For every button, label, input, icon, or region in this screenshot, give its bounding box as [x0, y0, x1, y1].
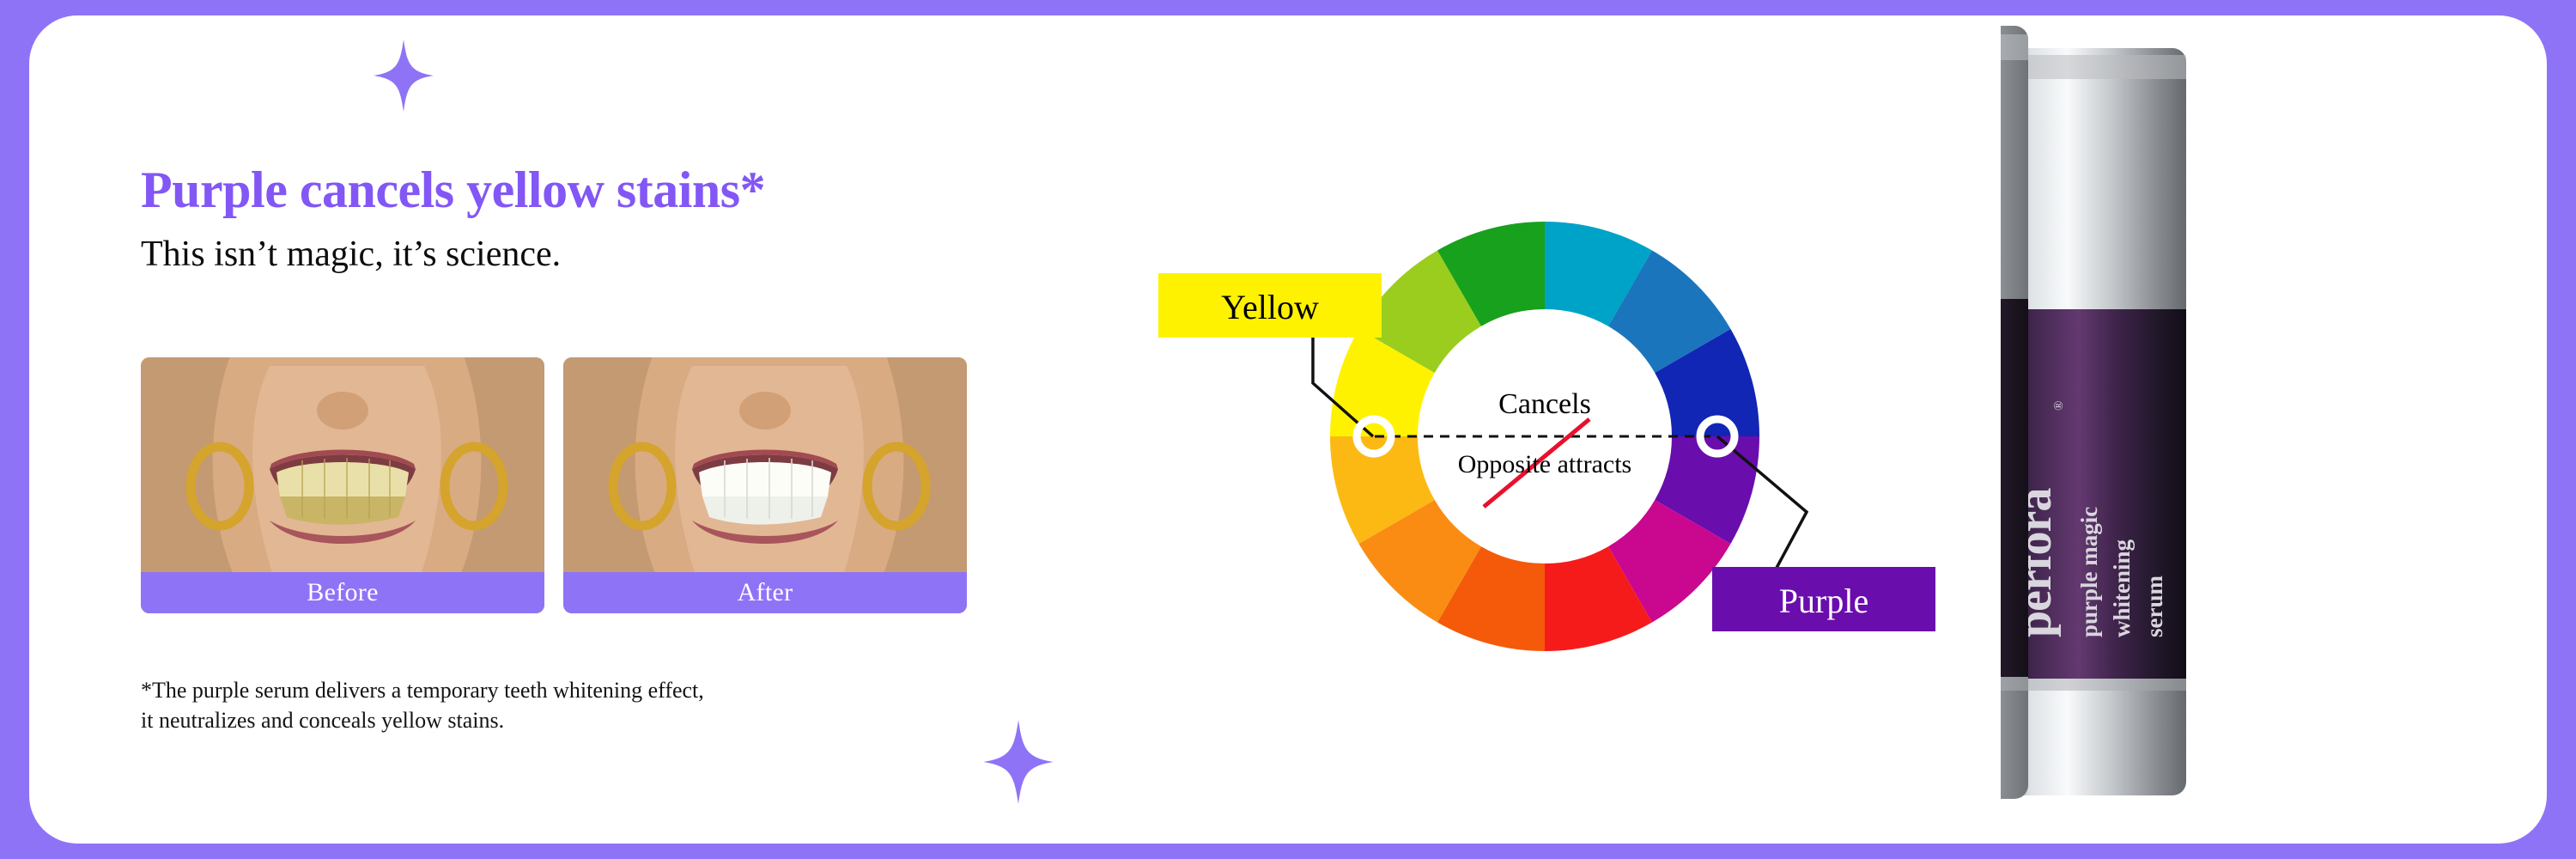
footnote-line-2: it neutralizes and conceals yellow stain… — [141, 705, 704, 735]
purple-label-text: Purple — [1779, 582, 1868, 620]
page-subtitle: This isn’t magic, it’s science. — [141, 235, 1051, 274]
product-bottles: perfora ® purple magic whitening serum p… — [2001, 0, 2533, 859]
wheel-opposite-attracts-label: Opposite attracts — [1458, 450, 1631, 478]
svg-text:purple magic: purple magic — [2076, 507, 2102, 637]
sparkle-top-left-icon — [373, 40, 434, 112]
yellow-label-text: Yellow — [1221, 288, 1319, 326]
svg-text:serum: serum — [2142, 576, 2167, 637]
svg-text:serum: serum — [2001, 575, 2005, 639]
after-label: After — [563, 572, 967, 613]
before-photo[interactable]: Before — [141, 357, 544, 613]
left-copy-block: Purple cancels yellow stains* This isn’t… — [141, 163, 1051, 274]
before-after-gallery: Before — [141, 357, 967, 613]
product-bottle-back: perfora ® purple magic whitening serum — [2001, 48, 2186, 795]
purple-label-chip: Purple — [1712, 567, 1935, 631]
before-label: Before — [141, 572, 544, 613]
page-title: Purple cancels yellow stains* — [141, 163, 1051, 217]
color-wheel-diagram: Cancels Opposite attracts Yellow Purple — [1051, 170, 2038, 771]
after-photo[interactable]: After — [563, 357, 967, 613]
footnote: *The purple serum delivers a temporary t… — [141, 675, 704, 735]
footnote-line-1: *The purple serum delivers a temporary t… — [141, 675, 704, 705]
infographic-banner: Purple cancels yellow stains* This isn’t… — [0, 0, 2576, 859]
wheel-cancels-label: Cancels — [1498, 388, 1591, 420]
svg-text:whitening: whitening — [2109, 539, 2135, 637]
product-bottle-front: perfora ® purple magic whitening serum — [2001, 26, 2028, 799]
sparkle-bottom-mid-icon — [982, 720, 1054, 804]
svg-text:®: ® — [2052, 401, 2066, 411]
yellow-label-chip: Yellow — [1158, 273, 1382, 338]
